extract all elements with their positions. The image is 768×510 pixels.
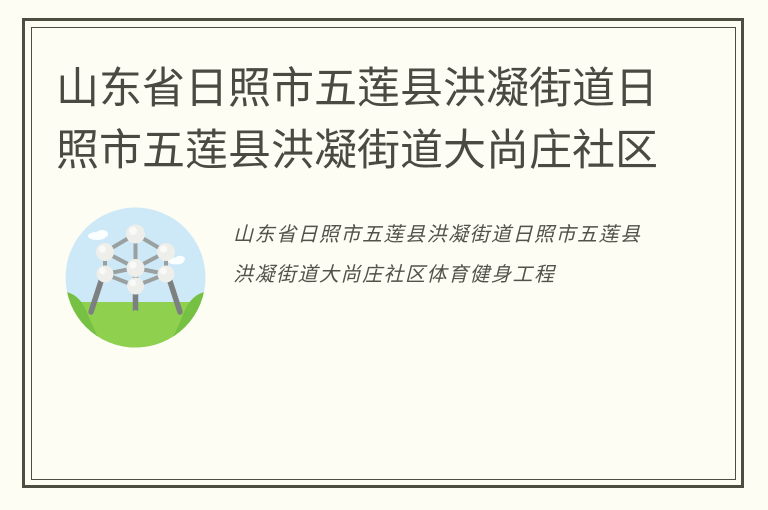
- page-title: 山东省日照市五莲县洪凝街道日照市五莲县洪凝街道大尚庄社区: [56, 58, 696, 182]
- page-root: 山东省日照市五莲县洪凝街道日照市五莲县洪凝街道大尚庄社区: [0, 0, 768, 510]
- article-body-text: 山东省日照市五莲县洪凝街道日照市五莲县洪凝街道大尚庄社区体育健身工程: [233, 214, 653, 294]
- atomium-monument-icon: [64, 206, 207, 349]
- article-card: 山东省日照市五莲县洪凝街道日照市五莲县洪凝街道大尚庄社区体育健身工程: [64, 206, 684, 356]
